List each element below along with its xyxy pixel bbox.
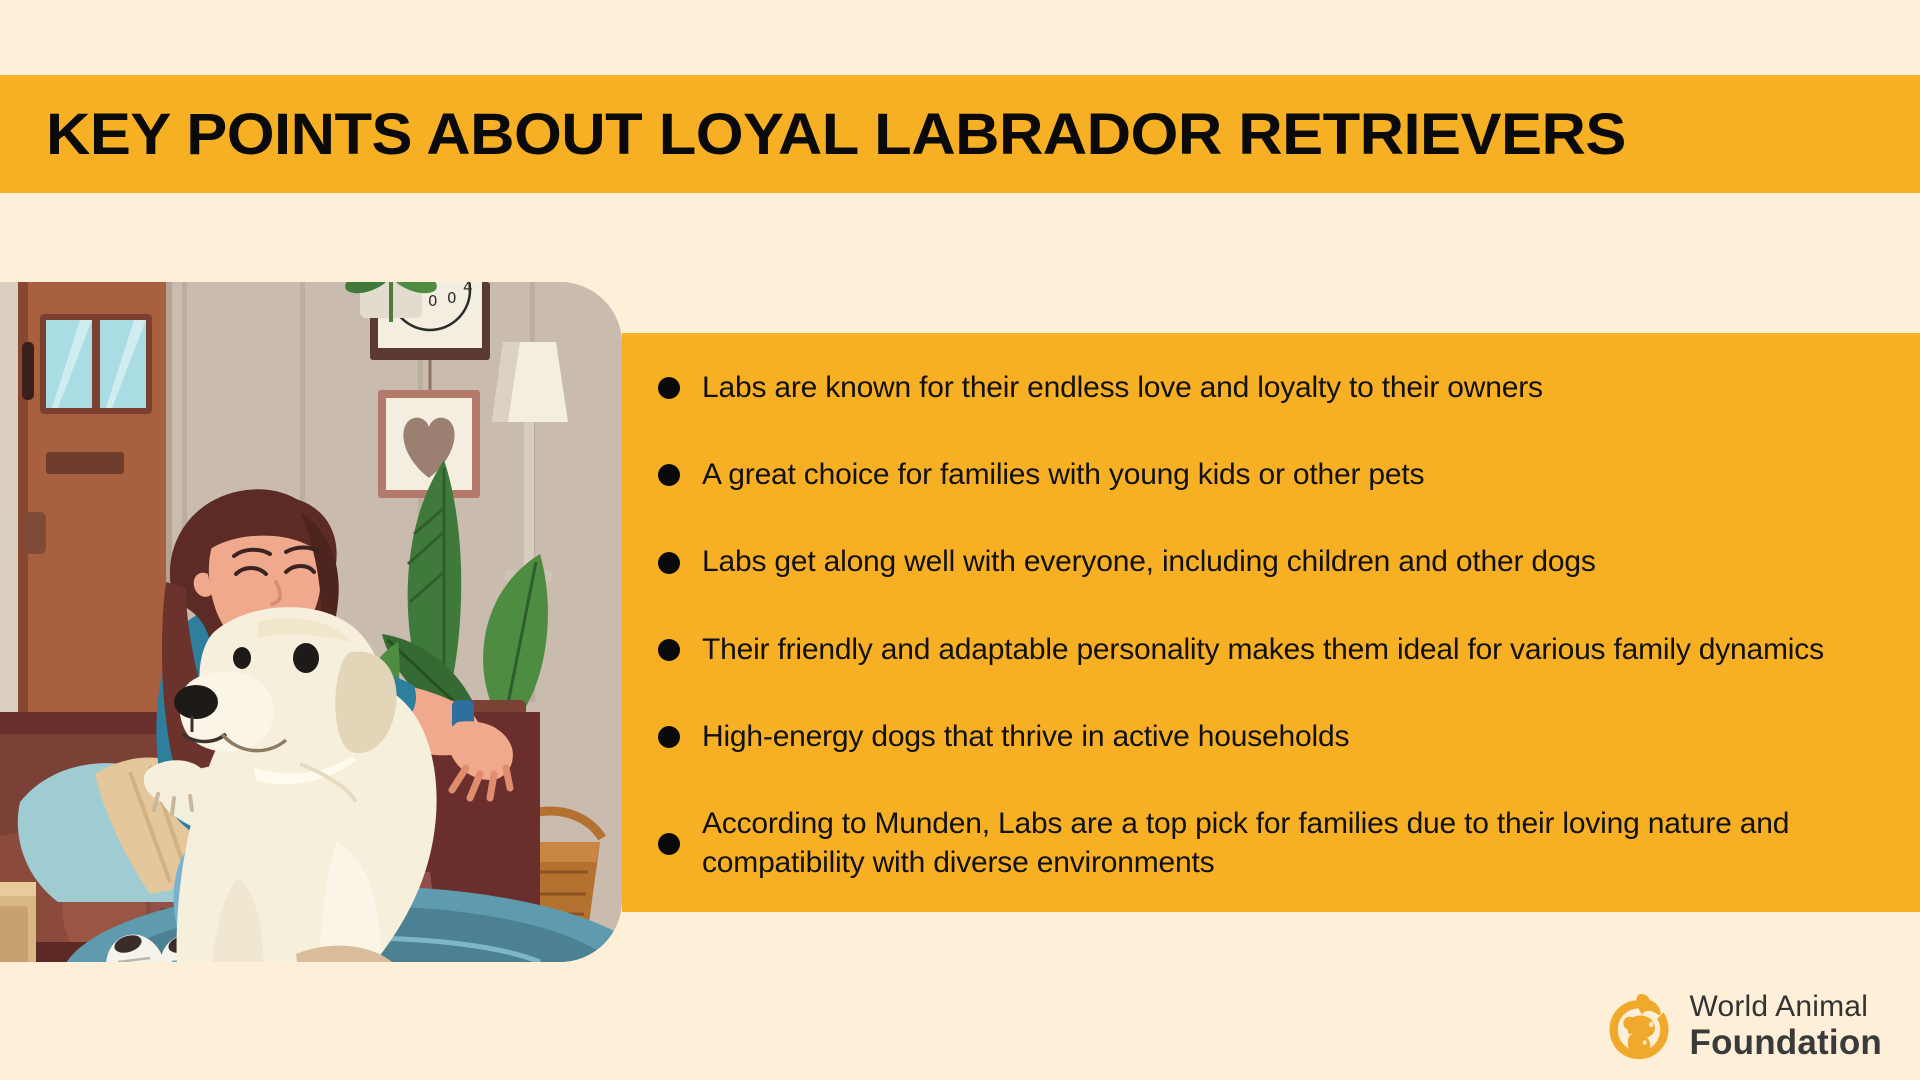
bullet-icon	[658, 377, 680, 399]
list-item: Labs get along well with everyone, inclu…	[658, 543, 1880, 581]
list-item-text: Their friendly and adaptable personality…	[702, 631, 1824, 669]
logo-line-world-animal: World Animal	[1689, 992, 1882, 1022]
bullet-icon	[658, 464, 680, 486]
page-title: KEY POINTS ABOUT LOYAL LABRADOR RETRIEVE…	[46, 101, 1626, 168]
logo-line-foundation: Foundation	[1689, 1025, 1882, 1060]
title-banner: KEY POINTS ABOUT LOYAL LABRADOR RETRIEVE…	[0, 75, 1920, 193]
bullet-icon	[658, 639, 680, 661]
logo-wordmark: World Animal Foundation	[1689, 992, 1882, 1060]
list-item: Labs are known for their endless love an…	[658, 369, 1880, 407]
list-item: Their friendly and adaptable personality…	[658, 631, 1880, 669]
bullet-icon	[658, 552, 680, 574]
svg-text:4: 4	[463, 282, 473, 296]
list-item-text: Labs get along well with everyone, inclu…	[702, 543, 1596, 581]
world-animal-foundation-circle-logo	[1603, 990, 1675, 1062]
list-item: A great choice for families with young k…	[658, 456, 1880, 494]
list-item: High-energy dogs that thrive in active h…	[658, 718, 1880, 756]
key-points-panel: Labs are known for their endless love an…	[622, 333, 1920, 912]
bullet-icon	[658, 726, 680, 748]
svg-text:0: 0	[447, 289, 457, 307]
bullet-icon	[658, 833, 680, 855]
svg-text:0: 0	[428, 292, 438, 310]
brand-logo: World Animal Foundation	[1603, 990, 1882, 1062]
list-item-text: According to Munden, Labs are a top pick…	[702, 805, 1880, 882]
illustration-panel: 7 0 0 D 4	[0, 282, 622, 962]
list-item-text: High-energy dogs that thrive in active h…	[702, 718, 1349, 756]
list-item-text: A great choice for families with young k…	[702, 456, 1424, 494]
list-item: According to Munden, Labs are a top pick…	[658, 805, 1880, 882]
list-item-text: Labs are known for their endless love an…	[702, 369, 1543, 407]
woman-hugging-labrador-illustration: 7 0 0 D 4	[0, 282, 622, 962]
